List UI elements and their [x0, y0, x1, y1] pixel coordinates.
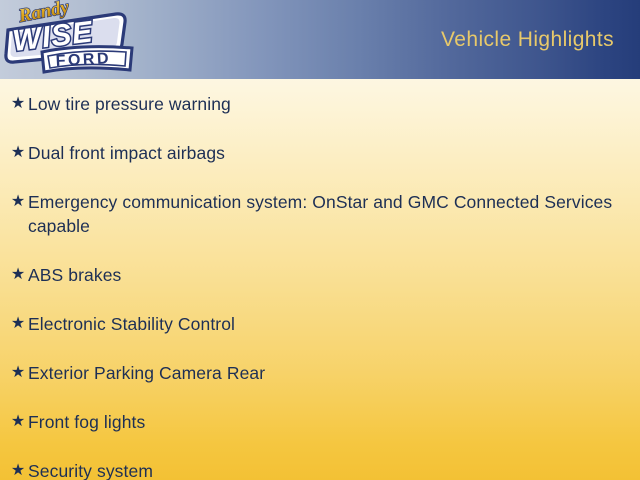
list-item: ★ Electronic Stability Control [0, 312, 640, 336]
star-icon: ★ [8, 190, 28, 214]
list-item-label: Front fog lights [28, 410, 622, 434]
star-icon: ★ [8, 92, 28, 116]
list-item-label: Electronic Stability Control [28, 312, 622, 336]
vehicle-highlights-list: ★ Low tire pressure warning ★ Dual front… [0, 79, 640, 480]
list-item: ★ Dual front impact airbags [0, 141, 640, 165]
list-item-label: Dual front impact airbags [28, 141, 622, 165]
list-item: ★ Front fog lights [0, 410, 640, 434]
star-icon: ★ [8, 141, 28, 165]
list-item-label: Security system [28, 459, 622, 480]
list-item: ★ Low tire pressure warning [0, 92, 640, 116]
list-item: ★ Exterior Parking Camera Rear [0, 361, 640, 385]
star-icon: ★ [8, 361, 28, 385]
logo-ford-banner: FORD [42, 47, 132, 72]
star-icon: ★ [8, 410, 28, 434]
vehicle-highlights-slide: Randy WISE FORD Vehicle Highlights [0, 0, 640, 480]
list-item: ★ ABS brakes [0, 263, 640, 287]
star-icon: ★ [8, 459, 28, 480]
star-icon: ★ [8, 312, 28, 336]
page-title: Vehicle Highlights [441, 28, 614, 52]
list-item: ★ Security system [0, 459, 640, 480]
star-icon: ★ [8, 263, 28, 287]
list-item-label: ABS brakes [28, 263, 622, 287]
dealer-logo[interactable]: Randy WISE FORD [4, 0, 144, 79]
svg-text:FORD: FORD [55, 50, 111, 70]
list-item: ★ Emergency communication system: OnStar… [0, 190, 640, 238]
list-item-label: Emergency communication system: OnStar a… [28, 190, 622, 238]
header-bar: Randy WISE FORD Vehicle Highlights [0, 0, 640, 79]
list-item-label: Exterior Parking Camera Rear [28, 361, 622, 385]
list-item-label: Low tire pressure warning [28, 92, 622, 116]
